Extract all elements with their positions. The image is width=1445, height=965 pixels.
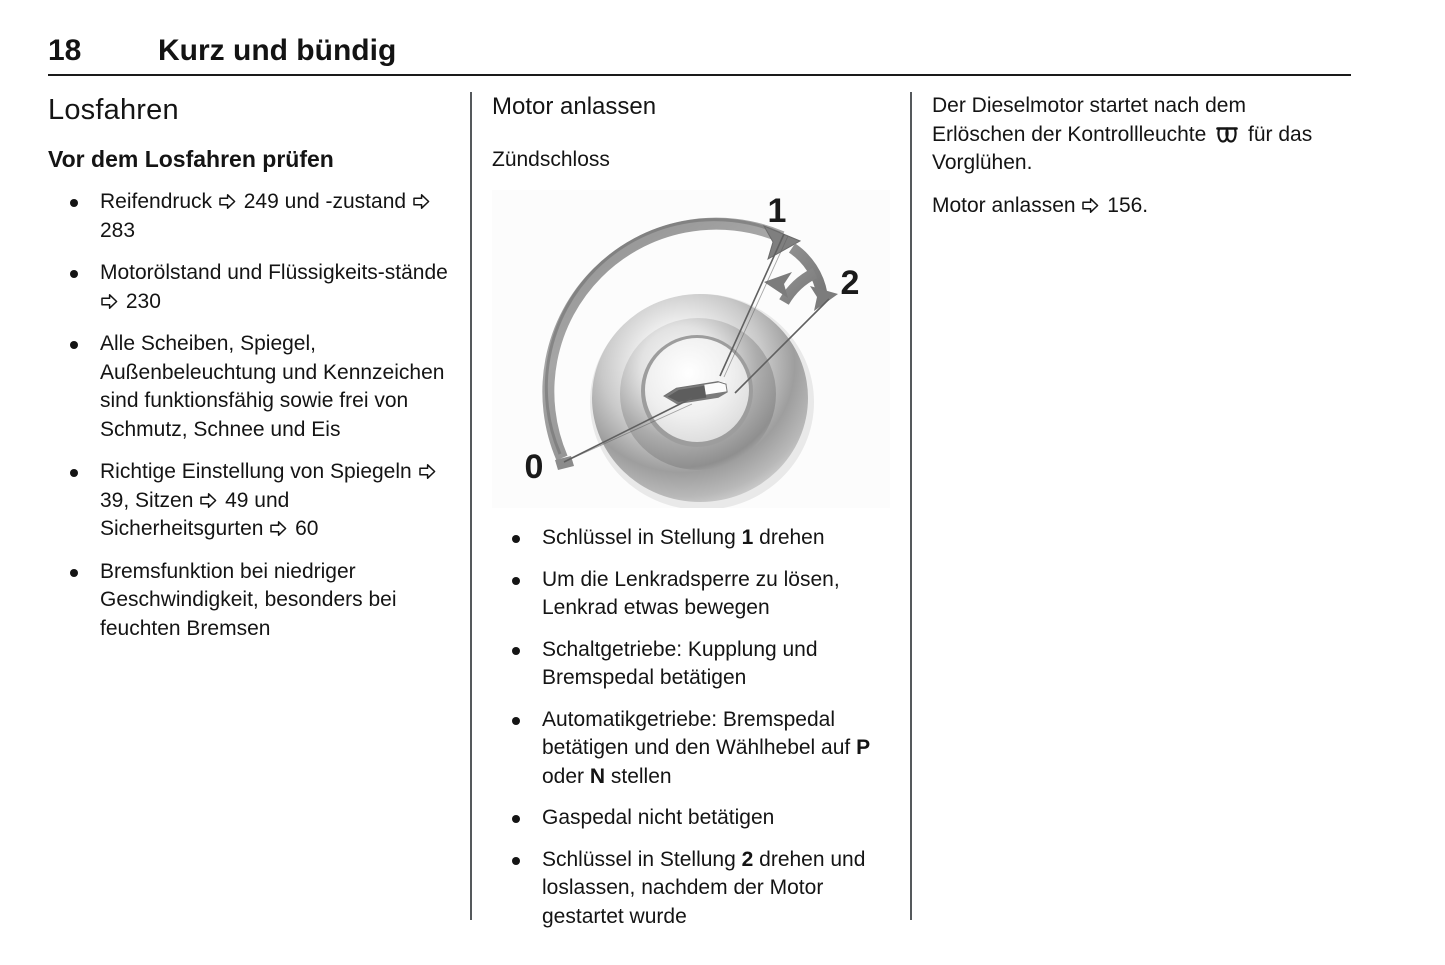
page-reference-number: 283 [100, 219, 135, 242]
right-column: Der Dieselmotor startet nach dem Erlösch… [932, 92, 1332, 234]
reference-label: Motor anlassen [932, 194, 1076, 217]
page-reference-number: 60 [295, 517, 318, 540]
list-item: Alle Scheiben, Spiegel, Außenbeleuchtung… [48, 330, 454, 444]
page-reference-icon [101, 293, 118, 310]
step-emphasis: 1 [742, 526, 754, 549]
step-text: oder [542, 765, 590, 788]
step-emphasis: P [856, 736, 870, 759]
page-reference-icon [413, 193, 430, 210]
list-item: Gaspedal nicht betätigen [492, 804, 892, 833]
step-text: Schlüssel in Stellung [542, 526, 742, 549]
bullet-text-part: Reifendruck [100, 190, 212, 213]
middle-section-subtitle: Zündschloss [492, 146, 892, 174]
list-item: Um die Lenkradsperre zu lösen, Lenkrad e… [492, 566, 892, 623]
page-reference-icon [219, 193, 236, 210]
checklist: Reifendruck 249 und -zustand 283 Motoröl… [48, 188, 454, 643]
step-text: stellen [605, 765, 672, 788]
glow-plug-preheat-icon [1215, 125, 1239, 144]
bullet-text-part: Bremsfunktion bei niedriger Geschwindigk… [100, 560, 397, 640]
figure-label-0: 0 [525, 448, 544, 486]
step-text: Automatikgetriebe: Bremspedal betätigen … [542, 708, 856, 760]
bullet-text-part: Motorölstand und Flüssigkeits-stände [100, 261, 448, 284]
middle-section-title: Motor anlassen [492, 92, 892, 122]
left-column: Losfahren Vor dem Losfahren prüfen Reife… [48, 92, 454, 657]
bullet-text-part: Alle Scheiben, Spiegel, Außenbeleuchtung… [100, 332, 444, 441]
step-emphasis: N [590, 765, 605, 788]
page-reference-number: 249 [244, 190, 279, 213]
start-engine-reference: Motor anlassen 156. [932, 192, 1332, 221]
column-divider-left [470, 92, 472, 920]
step-emphasis: 2 [742, 848, 754, 871]
list-item: Reifendruck 249 und -zustand 283 [48, 188, 454, 245]
start-engine-steps: Schlüssel in Stellung 1 drehen Um die Le… [492, 524, 892, 931]
step-text: Um die Lenkradsperre zu lösen, Lenkrad e… [542, 568, 840, 620]
list-item: Motorölstand und Flüssigkeits-stände 230 [48, 259, 454, 316]
ignition-lock-diagram: 1 2 0 [492, 190, 890, 508]
header-rule [48, 74, 1351, 76]
figure-label-1: 1 [768, 192, 787, 230]
list-item: Automatikgetriebe: Bremspedal betätigen … [492, 706, 892, 792]
bullet-text-part: Richtige Einstellung von Spiegeln [100, 460, 412, 483]
step-text: drehen [753, 526, 824, 549]
diesel-note-text: Der Dieselmotor startet nach dem Erlösch… [932, 94, 1246, 146]
step-text: Gaspedal nicht betätigen [542, 806, 774, 829]
chapter-title: Kurz und bündig [158, 34, 396, 68]
column-divider-right [910, 92, 912, 920]
page-header: 18 Kurz und bündig [48, 34, 1348, 78]
page-reference-number: 156. [1107, 194, 1148, 217]
page-title: Losfahren [48, 92, 454, 128]
page-reference-icon [1082, 197, 1099, 214]
section-subtitle: Vor dem Losfahren prüfen [48, 144, 454, 174]
list-item: Schlüssel in Stellung 2 drehen und losla… [492, 846, 892, 932]
page-reference-icon [270, 520, 287, 537]
figure-label-2: 2 [841, 264, 860, 302]
list-item: Bremsfunktion bei niedriger Geschwindigk… [48, 558, 454, 644]
diesel-note-paragraph: Der Dieselmotor startet nach dem Erlösch… [932, 92, 1332, 178]
step-text: Schlüssel in Stellung [542, 848, 742, 871]
page-number: 18 [48, 34, 158, 68]
middle-column: Motor anlassen Zündschloss [492, 92, 892, 188]
page-reference-number: 230 [126, 290, 161, 313]
list-item: Richtige Einstellung von Spiegeln 39, Si… [48, 458, 454, 544]
step-text: Schaltgetriebe: Kupplung und Bremspedal … [542, 638, 818, 690]
page-reference-icon [200, 492, 217, 509]
page-reference-icon [419, 463, 436, 480]
list-item: Schaltgetriebe: Kupplung und Bremspedal … [492, 636, 892, 693]
list-item: Schlüssel in Stellung 1 drehen [492, 524, 892, 553]
bullet-text-part: und -zustand [285, 190, 406, 213]
page-reference-number: 39, Sitzen [100, 489, 193, 512]
